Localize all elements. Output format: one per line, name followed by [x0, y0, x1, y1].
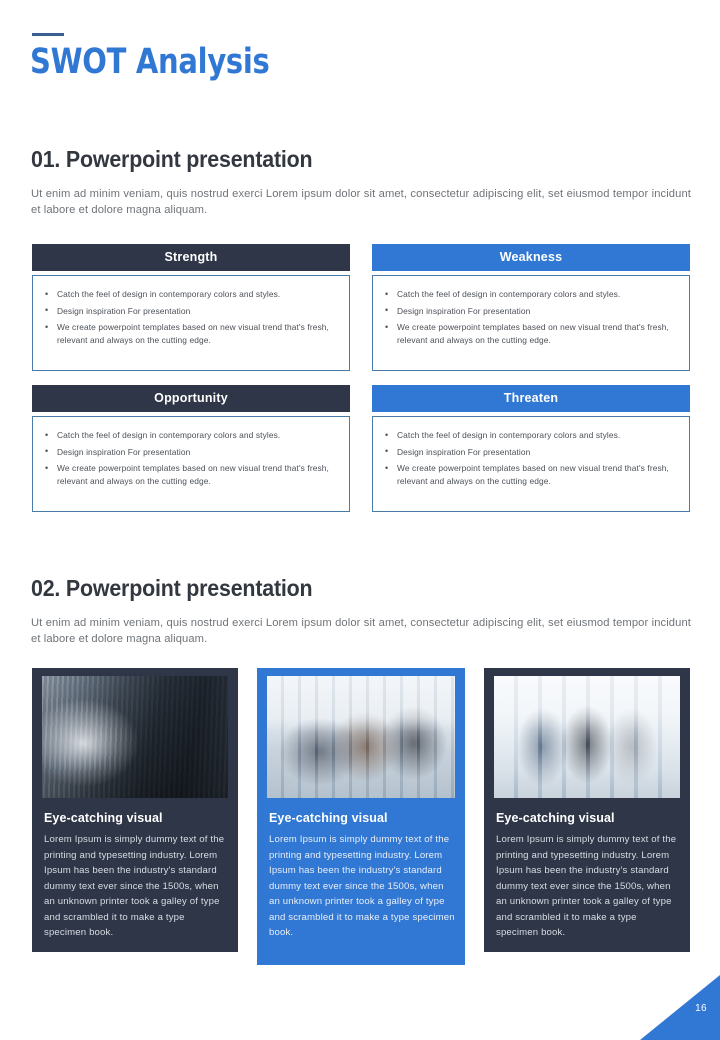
swot-bullet-list: Catch the feel of design in contemporary…	[383, 288, 679, 346]
card-image-server-technician	[42, 676, 228, 798]
list-item: Catch the feel of design in contemporary…	[43, 288, 339, 301]
card-body-text: Lorem Ipsum is simply dummy text of the …	[269, 832, 455, 941]
photo-placeholder	[494, 676, 680, 798]
title-accent-rule	[32, 33, 64, 36]
swot-bullet-list: Catch the feel of design in contemporary…	[383, 429, 679, 487]
section-body-02: Ut enim ad minim veniam, quis nostrud ex…	[31, 615, 691, 647]
photo-placeholder	[267, 676, 455, 798]
slide-canvas: SWOT Analysis 01. Powerpoint presentatio…	[0, 0, 720, 1040]
page-title: SWOT Analysis	[30, 42, 270, 82]
swot-bullet-list: Catch the feel of design in contemporary…	[43, 429, 339, 487]
section-heading-02: 02. Powerpoint presentation	[31, 575, 312, 602]
list-item: We create powerpoint templates based on …	[43, 321, 339, 346]
card-body-text: Lorem Ipsum is simply dummy text of the …	[44, 832, 228, 941]
list-item: Design inspiration For presentation	[383, 446, 679, 459]
swot-card-strength[interactable]: Strength Catch the feel of design in con…	[32, 244, 350, 371]
swot-card-opportunity[interactable]: Opportunity Catch the feel of design in …	[32, 385, 350, 512]
visual-card-2[interactable]: Eye-catching visual Lorem Ipsum is simpl…	[257, 668, 465, 965]
swot-body-strength: Catch the feel of design in contemporary…	[32, 275, 350, 371]
corner-triangle-decoration	[640, 975, 720, 1040]
swot-header-weakness: Weakness	[372, 244, 690, 271]
section-heading-01: 01. Powerpoint presentation	[31, 146, 312, 173]
list-item: Catch the feel of design in contemporary…	[383, 288, 679, 301]
page-number: 16	[695, 1003, 707, 1014]
section-body-01: Ut enim ad minim veniam, quis nostrud ex…	[31, 186, 691, 218]
visual-card-1[interactable]: Eye-catching visual Lorem Ipsum is simpl…	[32, 668, 238, 952]
list-item: We create powerpoint templates based on …	[383, 321, 679, 346]
swot-header-opportunity: Opportunity	[32, 385, 350, 412]
list-item: We create powerpoint templates based on …	[383, 462, 679, 487]
list-item: Design inspiration For presentation	[383, 305, 679, 318]
swot-card-threaten[interactable]: Threaten Catch the feel of design in con…	[372, 385, 690, 512]
swot-header-strength: Strength	[32, 244, 350, 271]
list-item: Design inspiration For presentation	[43, 305, 339, 318]
list-item: Design inspiration For presentation	[43, 446, 339, 459]
card-title: Eye-catching visual	[44, 811, 163, 825]
card-title: Eye-catching visual	[269, 811, 388, 825]
swot-body-weakness: Catch the feel of design in contemporary…	[372, 275, 690, 371]
list-item: Catch the feel of design in contemporary…	[383, 429, 679, 442]
swot-body-opportunity: Catch the feel of design in contemporary…	[32, 416, 350, 512]
card-title: Eye-catching visual	[496, 811, 615, 825]
swot-card-weakness[interactable]: Weakness Catch the feel of design in con…	[372, 244, 690, 371]
swot-body-threaten: Catch the feel of design in contemporary…	[372, 416, 690, 512]
visual-card-3[interactable]: Eye-catching visual Lorem Ipsum is simpl…	[484, 668, 690, 952]
swot-header-threaten: Threaten	[372, 385, 690, 412]
list-item: Catch the feel of design in contemporary…	[43, 429, 339, 442]
card-body-text: Lorem Ipsum is simply dummy text of the …	[496, 832, 680, 941]
card-image-business-people	[494, 676, 680, 798]
card-image-team-meeting	[267, 676, 455, 798]
list-item: We create powerpoint templates based on …	[43, 462, 339, 487]
swot-bullet-list: Catch the feel of design in contemporary…	[43, 288, 339, 346]
photo-placeholder	[42, 676, 228, 798]
